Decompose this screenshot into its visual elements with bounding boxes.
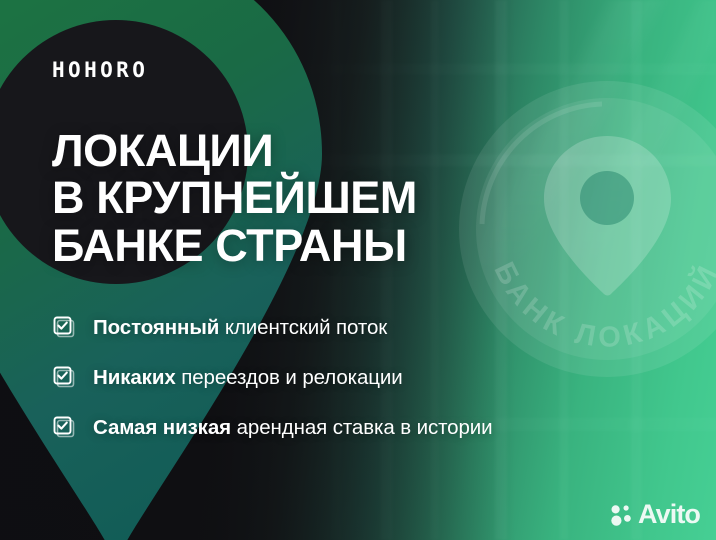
list-item: Самая низкая арендная ставка в истории bbox=[52, 415, 716, 439]
list-item-strong: Никаких bbox=[93, 366, 176, 389]
list-item-rest: переездов и релокации bbox=[176, 366, 403, 389]
avito-dots-icon bbox=[609, 503, 633, 527]
list-item-label: Постоянный клиентский поток bbox=[93, 316, 387, 340]
benefits-list: Постоянный клиентский поток Никаких пере… bbox=[52, 315, 716, 439]
avito-watermark: Avito bbox=[609, 501, 700, 528]
list-item-label: Самая низкая арендная ставка в истории bbox=[93, 416, 492, 440]
list-item-label: Никаких переездов и релокации bbox=[93, 366, 403, 390]
headline-line-3: БАНКЕ СТРАНЫ bbox=[52, 222, 716, 269]
avito-wordmark: Avito bbox=[638, 501, 700, 528]
list-item-strong: Самая низкая bbox=[93, 416, 231, 439]
headline-line-2: В КРУПНЕЙШЕМ bbox=[52, 174, 716, 221]
checkbox-checked-icon bbox=[52, 365, 76, 389]
list-item: Постоянный клиентский поток bbox=[52, 315, 716, 339]
list-item-strong: Постоянный bbox=[93, 316, 219, 339]
list-item: Никаких переездов и релокации bbox=[52, 365, 716, 389]
content-area: HOHORO ЛОКАЦИИ В КРУПНЕЙШЕМ БАНКЕ СТРАНЫ… bbox=[0, 0, 716, 540]
headline-line-1: ЛОКАЦИИ bbox=[52, 127, 716, 174]
list-item-rest: арендная ставка в истории bbox=[231, 416, 492, 439]
checkbox-checked-icon bbox=[52, 315, 76, 339]
brand-logo: HOHORO bbox=[52, 60, 716, 81]
page-title: ЛОКАЦИИ В КРУПНЕЙШЕМ БАНКЕ СТРАНЫ bbox=[52, 127, 716, 269]
checkbox-checked-icon bbox=[52, 415, 76, 439]
list-item-rest: клиентский поток bbox=[219, 316, 387, 339]
promo-banner: БАНК ЛОКАЦИЙ HOHORO ЛОКАЦИИ В КРУПНЕЙШЕМ… bbox=[0, 0, 716, 540]
